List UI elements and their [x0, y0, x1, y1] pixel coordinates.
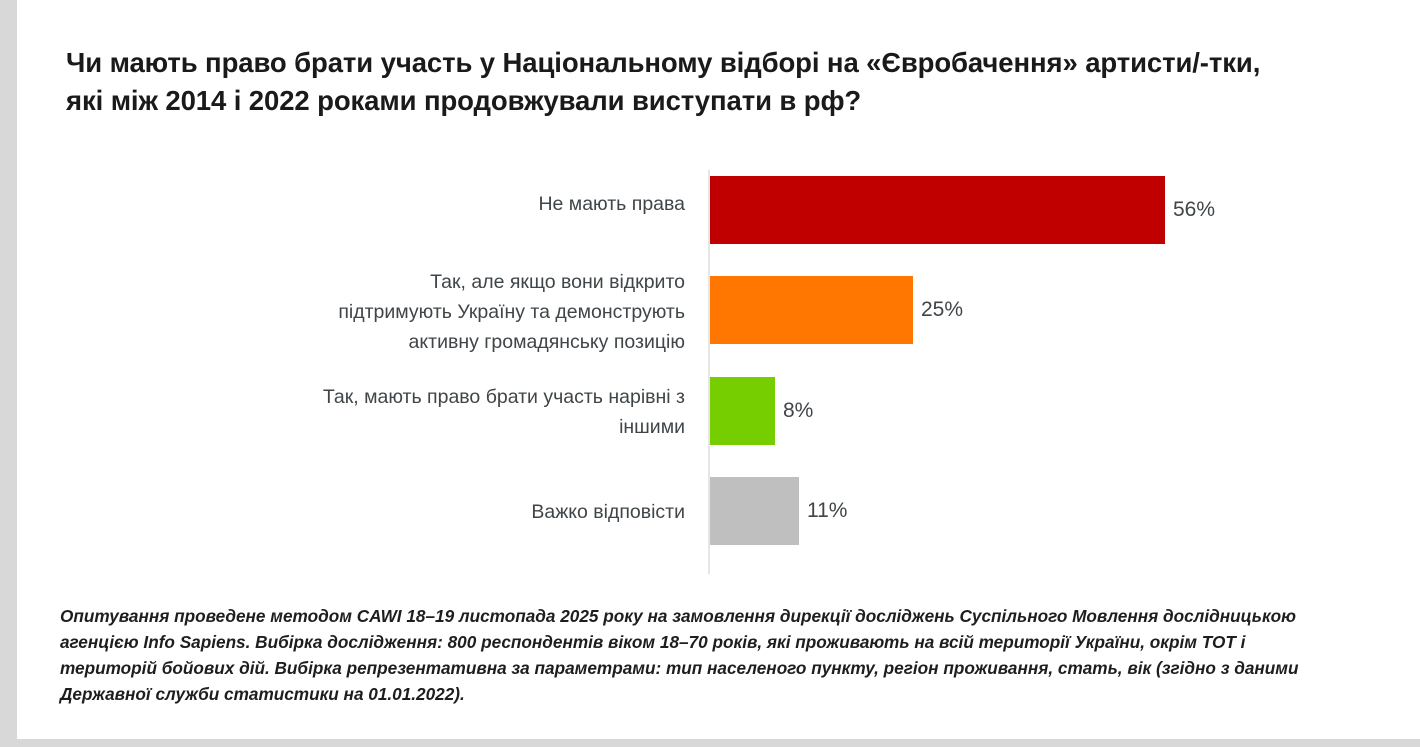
bar-value-label: 25% [921, 298, 963, 322]
category-label-line: іншими [205, 412, 685, 442]
footnote-line: територій бойових дій. Вибірка репрезент… [60, 655, 1390, 681]
category-label: Так, мають право брати участь нарівні з … [205, 382, 685, 442]
bar-segment[interactable] [710, 276, 913, 344]
category-label-line: активну громадянську позицію [205, 327, 685, 357]
bar-value-label: 56% [1173, 198, 1215, 222]
page-bottom-edge [0, 739, 1420, 747]
bar-value-label: 11% [807, 499, 847, 523]
bar-segment[interactable] [710, 477, 799, 545]
category-label: Так, але якщо вони відкрито підтримують … [205, 267, 685, 357]
bar-segment[interactable] [710, 377, 775, 445]
chart-row: Не мають права 56% [17, 155, 1420, 255]
footnote-line: агенцією Info Sapiens. Вибірка досліджен… [60, 629, 1390, 655]
page-title-line-1: Чи мають право брати участь у Національн… [66, 44, 1366, 82]
page-title: Чи мають право брати участь у Національн… [66, 44, 1366, 120]
page-title-line-2: які між 2014 і 2022 роками продовжували … [66, 82, 1366, 120]
chart-row: Важко відповісти 11% [17, 455, 1420, 555]
bar-segment[interactable] [710, 176, 1165, 244]
bar-value-label: 8% [783, 399, 813, 423]
category-label-line: Важко відповісти [205, 497, 685, 527]
slide-canvas: Чи мають право брати участь у Національн… [17, 0, 1420, 739]
category-label: Важко відповісти [205, 497, 685, 527]
category-label-line: Так, мають право брати участь нарівні з [205, 382, 685, 412]
chart-row: Так, мають право брати участь нарівні з … [17, 355, 1420, 455]
category-label-line: підтримують Україну та демонструють [205, 297, 685, 327]
category-label-line: Так, але якщо вони відкрито [205, 267, 685, 297]
footnote-line: Опитування проведене методом CAWI 18–19 … [60, 603, 1390, 629]
chart-row: Так, але якщо вони відкрито підтримують … [17, 255, 1420, 355]
footnote-line: Державної служби статистики на 01.01.202… [60, 681, 1390, 707]
category-label-line: Не мають права [205, 189, 685, 219]
category-label: Не мають права [205, 189, 685, 219]
slide-frame: Чи мають право брати участь у Національн… [0, 0, 1420, 747]
bar-chart: Не мають права 56% Так, але якщо вони ві… [17, 155, 1420, 585]
methodology-footnote: Опитування проведене методом CAWI 18–19 … [60, 603, 1390, 707]
